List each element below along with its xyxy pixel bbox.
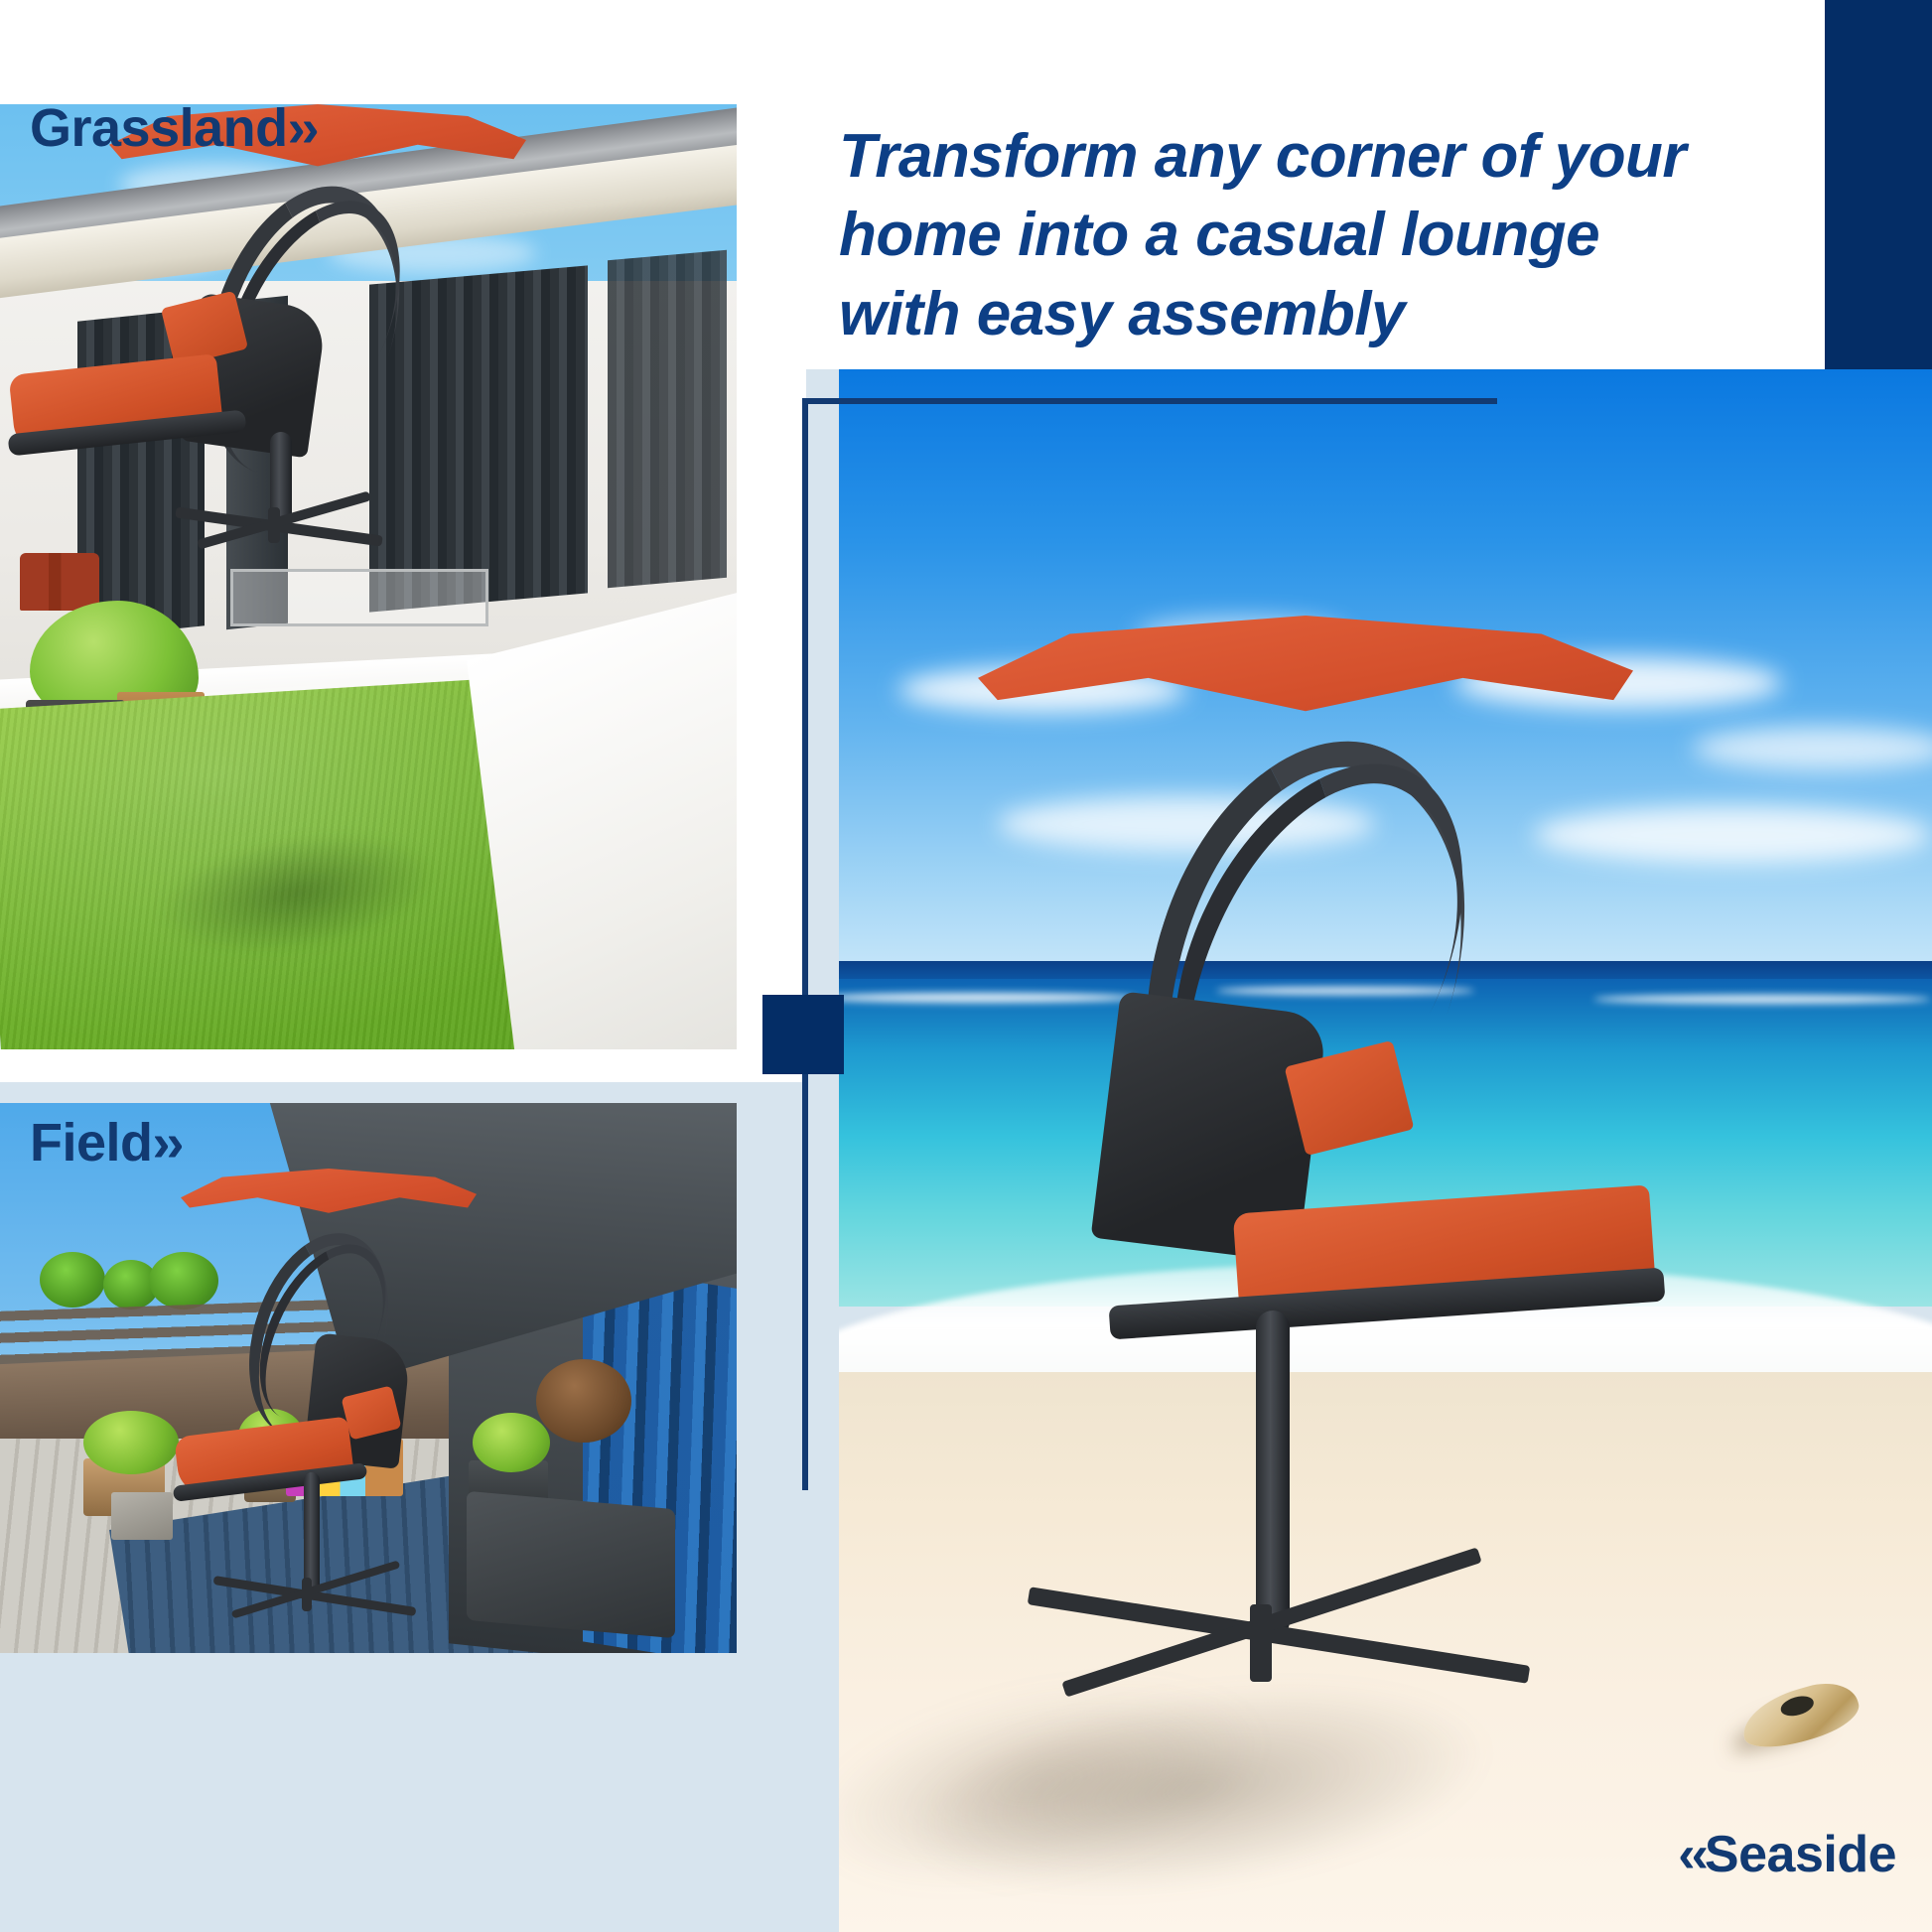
patio-table: [230, 569, 488, 626]
base-leg: [302, 1578, 312, 1611]
seaside-frame-left-edge: [802, 398, 808, 1490]
product-lifestyle-collage: Transform any corner of your home into a…: [0, 0, 1932, 1932]
chevron-right-icon: ››: [153, 1113, 181, 1173]
navy-square-accent: [762, 995, 844, 1074]
potted-shrub: [473, 1413, 550, 1472]
navy-corner-accent: [1825, 0, 1932, 395]
potted-shrub: [536, 1359, 631, 1443]
house-window: [608, 250, 727, 588]
cloud-shape: [1534, 806, 1931, 864]
label-field-text: Field: [30, 1113, 153, 1173]
label-grassland-text: Grassland: [30, 98, 288, 158]
concrete-walkway: [467, 581, 737, 1049]
potted-shrub: [83, 1411, 179, 1474]
chevron-right-icon: ››: [288, 98, 316, 158]
chevron-left-icon: ‹‹: [1678, 1826, 1705, 1883]
wave-crest: [1593, 995, 1931, 1004]
base-leg: [1250, 1604, 1272, 1682]
base-leg: [268, 507, 280, 543]
patio-chairs: [20, 553, 99, 611]
distant-tree: [149, 1252, 218, 1310]
headline-text: Transform any corner of your home into a…: [839, 117, 1732, 353]
photo-grassland: [0, 104, 737, 1049]
deck-stool: [111, 1492, 173, 1540]
label-grassland: Grassland››: [30, 97, 316, 159]
house-window: [369, 265, 588, 612]
cloud-shape: [1693, 727, 1932, 770]
label-seaside-text: Seaside: [1705, 1826, 1896, 1883]
photo-field: [0, 1103, 737, 1653]
photo-seaside: [839, 369, 1932, 1932]
outdoor-sofa: [467, 1491, 675, 1638]
label-field: Field››: [30, 1112, 180, 1173]
label-seaside: ‹‹Seaside: [1678, 1825, 1896, 1884]
support-post: [1256, 1311, 1290, 1638]
distant-tree: [40, 1252, 105, 1308]
